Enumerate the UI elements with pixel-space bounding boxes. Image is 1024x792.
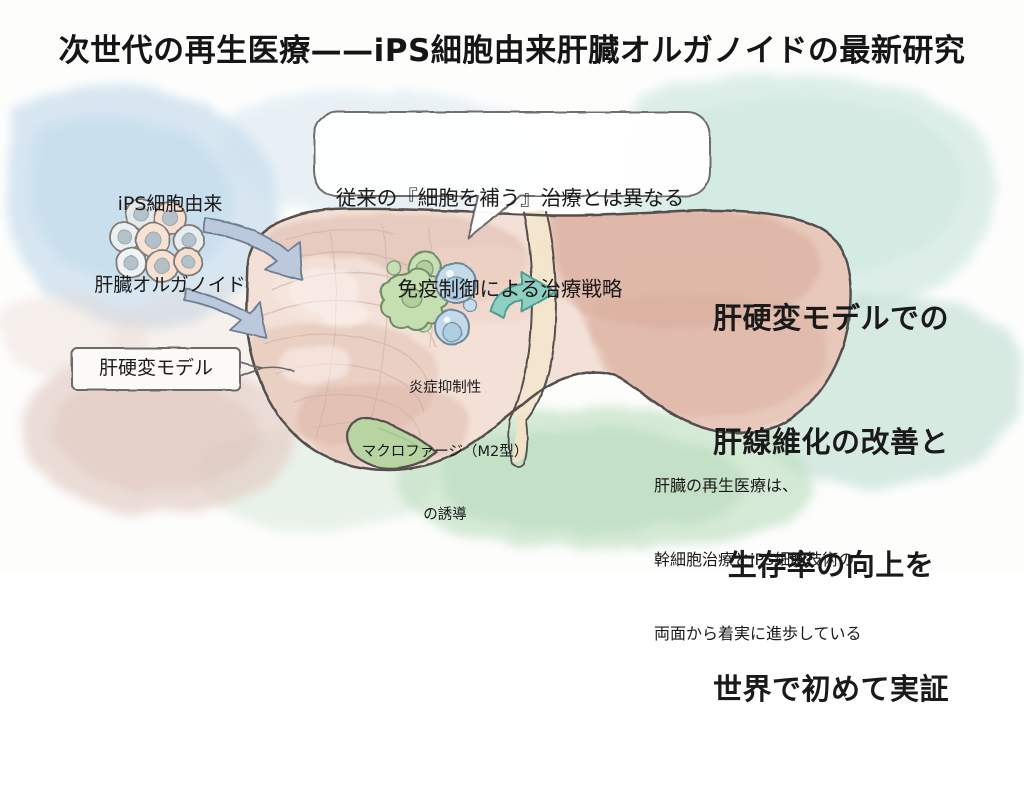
speech-bubble-line2: 免疫制御による治療戦略 — [325, 274, 695, 304]
speech-bubble-text: 従来の『細胞を補う』治療とは異なる 免疫制御による治療戦略 — [325, 122, 695, 365]
headline-line1: 肝硬変モデルでの — [666, 298, 996, 339]
footnote-line1: 肝臓の再生医療は、 — [654, 474, 994, 499]
infographic-canvas: 次世代の再生医療——iPS細胞由来肝臓オルガノイドの最新研究 iPS細胞由来 肝… — [0, 0, 1024, 572]
footnote-line3: 両面から着実に進歩している — [654, 622, 994, 647]
footnote: 肝臓の再生医療は、 幹細胞治療とiPS細胞技術の 両面から着実に進歩している — [654, 424, 994, 697]
cirrhosis-model-label: 肝硬変モデル — [79, 356, 233, 380]
macrophage-label-line1: 炎症抑制性 — [350, 378, 540, 399]
macrophage-label: 炎症抑制性 マクロファージ（M2型） の誘導 — [350, 336, 540, 569]
macrophage-label-line2: マクロファージ（M2型） — [350, 442, 540, 463]
organoid-label: iPS細胞由来 肝臓オルガノイド — [70, 137, 270, 353]
macrophage-label-line3: の誘導 — [350, 505, 540, 526]
organoid-label-line2: 肝臓オルガノイド — [70, 272, 270, 299]
footnote-line2: 幹細胞治療とiPS細胞技術の — [654, 548, 994, 573]
speech-bubble-line1: 従来の『細胞を補う』治療とは異なる — [325, 183, 695, 213]
organoid-label-line1: iPS細胞由来 — [70, 191, 270, 218]
page-title: 次世代の再生医療——iPS細胞由来肝臓オルガノイドの最新研究 — [0, 32, 1024, 72]
